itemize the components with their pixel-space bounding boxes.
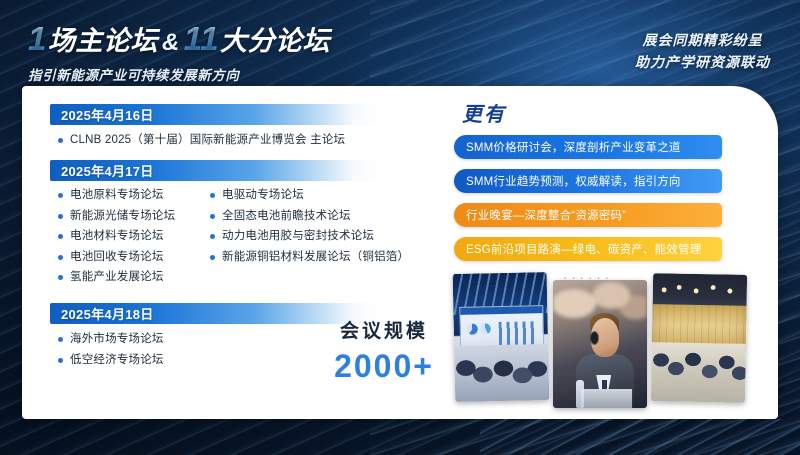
list-item-label: 新能源铜铝材料发展论坛（铜铝箔） (222, 250, 409, 264)
list-item: 新能源光储专场论坛 (50, 209, 202, 223)
more-pill-1[interactable]: SMM行业趋势预测，权威解读，指引方向 (454, 169, 722, 193)
more-title: 更有 (462, 98, 746, 127)
list-item: 电驱动专场论坛 (202, 188, 417, 202)
list-item-label: 低空经济专场论坛 (70, 353, 164, 367)
header-right-line-2: 助力产学研资源联动 (635, 52, 770, 74)
bullet-dot-icon (58, 275, 63, 280)
schedule-items-1-col2: 电驱动专场论坛 全固态电池前瞻技术论坛 动力电池用胶与密封技术论坛 (202, 188, 417, 290)
scale-number: 2000+ (304, 348, 464, 385)
list-item-label: 动力电池用胶与密封技术论坛 (222, 229, 374, 243)
more-pill-label-1: SMM行业趋势预测，权威解读，指引方向 (466, 173, 681, 189)
date-label-1: 2025年4月17日 (50, 161, 154, 180)
more-pill-label-0: SMM价格研讨会，深度剖析产业变革之道 (466, 139, 681, 155)
more-column: 更有 SMM价格研讨会，深度剖析产业变革之道 SMM行业趋势预测，权威解读，指引… (454, 98, 746, 292)
bullet-dot-icon (58, 255, 63, 260)
title-text-one: 场主论坛 (48, 26, 158, 56)
bullet-dot-icon (58, 193, 63, 198)
list-item-label: 海外市场专场论坛 (70, 332, 164, 346)
title-number-eleven: 11 (184, 20, 220, 57)
scale-label: 会议规模 (304, 316, 464, 343)
list-item-label: 电池原料专场论坛 (70, 188, 164, 202)
list-item: 氢能产业发展论坛 (50, 270, 202, 284)
content-card: 2025年4月16日 CLNB 2025（第十届）国际新能源产业博览会 主论坛 … (22, 86, 778, 419)
bullet-dot-icon (58, 358, 63, 363)
list-item-label: 电池回收专场论坛 (70, 250, 164, 264)
more-pill-label-2: 行业晚宴—深度整合“资源密码” (466, 207, 626, 223)
schedule-items-1-col1: 电池原料专场论坛 新能源光储专场论坛 电池材料专场论坛 (50, 188, 202, 290)
list-item: 电池回收专场论坛 (50, 250, 202, 264)
bullet-dot-icon (210, 193, 215, 198)
list-item: CLNB 2025（第十届）国际新能源产业博览会 主论坛 (50, 133, 422, 147)
list-item: 电池原料专场论坛 (50, 188, 202, 202)
more-pill-label-3: ESG前沿项目路演—绿电、碳资产、能效管理 (466, 241, 701, 257)
title-text-two: 大分论坛 (220, 26, 330, 56)
bottom-streaks (480, 419, 800, 455)
bullet-dot-icon (210, 234, 215, 239)
header-right: 展会同期精彩纷呈 助力产学研资源联动 (635, 30, 770, 73)
date-label-0: 2025年4月16日 (50, 105, 154, 124)
bullet-dot-icon (58, 234, 63, 239)
header-right-line-1: 展会同期精彩纷呈 (635, 30, 770, 52)
list-item-label: 氢能产业发展论坛 (70, 270, 164, 284)
title-ampersand: & (158, 29, 184, 56)
more-pill-0[interactable]: SMM价格研讨会，深度剖析产业变革之道 (454, 135, 722, 159)
delegate-with-headset-photo (553, 280, 647, 408)
schedule-items-1: 电池原料专场论坛 新能源光储专场论坛 电池材料专场论坛 (50, 188, 422, 290)
title-number-one: 1 (28, 20, 48, 57)
schedule-items-0: CLNB 2025（第十届）国际新能源产业博览会 主论坛 (50, 133, 422, 147)
more-pill-2[interactable]: 行业晚宴—深度整合“资源密码” (454, 203, 722, 227)
bullet-dot-icon (58, 337, 63, 342)
page-subtitle: 指引新能源产业可持续发展新方向 (28, 64, 330, 84)
list-item-label: 电驱动专场论坛 (222, 188, 304, 202)
conference-presentation-photo (453, 272, 550, 402)
page-title: 1场主论坛&11大分论坛 (28, 22, 330, 55)
photo-strip (454, 276, 746, 404)
list-item: 新能源铜铝材料发展论坛（铜铝箔） (202, 250, 417, 264)
scale-block: 会议规模 2000+ (304, 316, 464, 385)
list-item-label: CLNB 2025（第十届）国际新能源产业博览会 主论坛 (70, 133, 345, 147)
schedule-section-1: 2025年4月17日 电池原料专场论坛 新能源光储专场论坛 (50, 160, 422, 290)
bullet-dot-icon (58, 138, 63, 143)
list-item: 动力电池用胶与密封技术论坛 (202, 229, 417, 243)
list-item: 全固态电池前瞻技术论坛 (202, 209, 417, 223)
date-bar-0: 2025年4月16日 (50, 104, 380, 125)
date-bar-1: 2025年4月17日 (50, 160, 380, 181)
list-item: 电池材料专场论坛 (50, 229, 202, 243)
list-item-label: 电池材料专场论坛 (70, 229, 164, 243)
more-pill-3[interactable]: ESG前沿项目路演—绿电、碳资产、能效管理 (454, 237, 722, 261)
date-label-2: 2025年4月18日 (50, 304, 154, 323)
bullet-dot-icon (210, 214, 215, 219)
conference-hall-photo (651, 273, 747, 403)
bullet-dot-icon (210, 255, 215, 260)
list-item-label: 新能源光储专场论坛 (70, 209, 175, 223)
schedule-section-0: 2025年4月16日 CLNB 2025（第十届）国际新能源产业博览会 主论坛 (50, 104, 422, 147)
list-item-label: 全固态电池前瞻技术论坛 (222, 209, 351, 223)
bullet-dot-icon (58, 214, 63, 219)
poster-root: 1场主论坛&11大分论坛 指引新能源产业可持续发展新方向 展会同期精彩纷呈 助力… (0, 0, 800, 455)
header-left: 1场主论坛&11大分论坛 指引新能源产业可持续发展新方向 (28, 22, 330, 84)
